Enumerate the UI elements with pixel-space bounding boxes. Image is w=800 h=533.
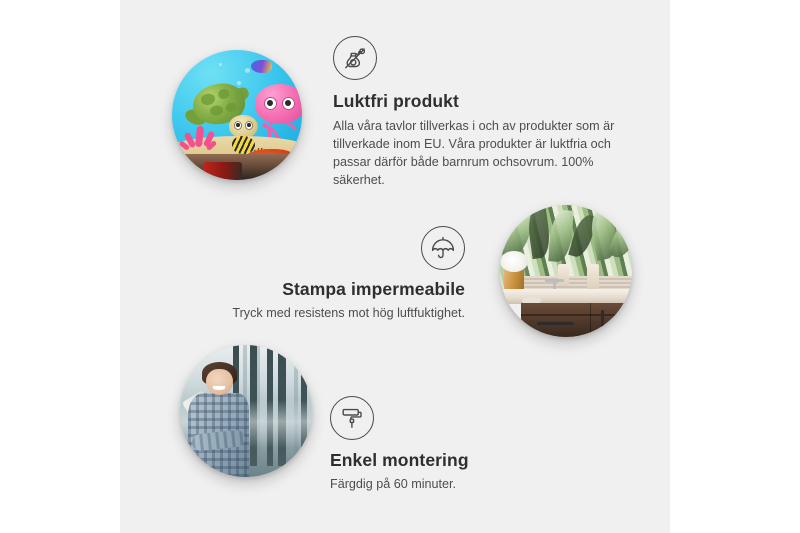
- feature-assembly-description: Färgdig på 60 minuter.: [330, 476, 590, 494]
- bubble-icon: [219, 63, 222, 66]
- bubble-icon: [245, 68, 250, 73]
- feature-assembly: Enkel montering Färgdig på 60 minuter.: [330, 396, 590, 494]
- umbrella-icon: [421, 226, 465, 270]
- woman-painter-forest-photo: [180, 345, 312, 477]
- product-feature-banner: Luktfri produkt Alla våra tavlor tillver…: [0, 0, 800, 533]
- paint-roller-icon: [330, 396, 374, 440]
- blue-fish-icon: [251, 60, 272, 73]
- feature-waterproof: Stampa impermeabile Tryck med resistens …: [200, 226, 465, 323]
- feature-waterproof-description: Tryck med resistens mot hög luftfuktighe…: [200, 305, 465, 323]
- foreground-object: [203, 162, 242, 179]
- coral-icon: [180, 123, 219, 157]
- feature-waterproof-title: Stampa impermeabile: [200, 279, 465, 300]
- feature-odorless-title: Luktfri produkt: [333, 91, 633, 112]
- feature-assembly-icon-wrap: [330, 396, 590, 440]
- woman-smile: [213, 386, 225, 390]
- bottle-shape: [558, 264, 569, 285]
- feature-waterproof-icon-wrap: [200, 226, 465, 270]
- feature-odorless-description: Alla våra tavlor tillverkas i och av pro…: [333, 118, 633, 190]
- octopus-head: [255, 84, 302, 123]
- feature-odorless-icon-wrap: [333, 36, 633, 80]
- underwater-cartoon-photo: [172, 50, 302, 180]
- flowers-shape: [500, 251, 528, 272]
- bottle-shape: [587, 264, 599, 289]
- feature-odorless: Luktfri produkt Alla våra tavlor tillver…: [333, 36, 633, 190]
- wood-vanity-cabinet: [521, 303, 632, 337]
- woman-face: [206, 369, 232, 395]
- feature-assembly-title: Enkel montering: [330, 450, 590, 471]
- no-odor-spray-bottle-icon: [333, 36, 377, 80]
- bathroom-leaf-wallpaper-photo: [500, 205, 632, 337]
